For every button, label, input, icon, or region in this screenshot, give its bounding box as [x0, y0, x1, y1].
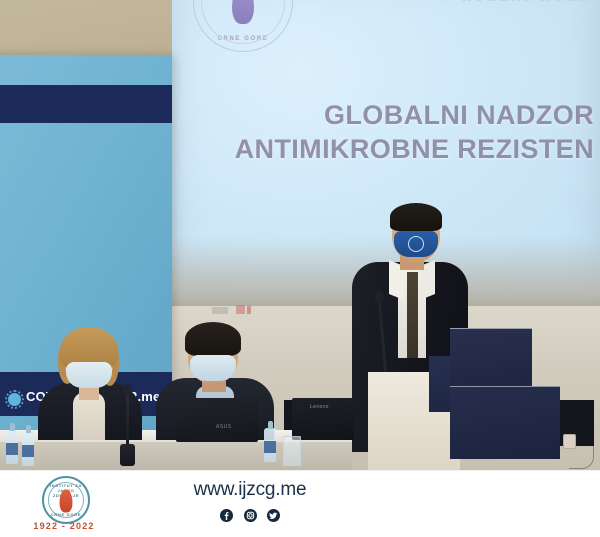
- mask-logo-icon: [408, 236, 424, 252]
- badge-flame-icon: [60, 489, 73, 512]
- woman-face-mask-icon: [66, 362, 112, 388]
- laptop-right-brand: Lenovo: [310, 404, 329, 410]
- slide-logo-flame-icon: [232, 0, 254, 24]
- man-hair: [185, 322, 241, 356]
- laptop-left: [176, 398, 258, 442]
- water-bottle-3: [264, 428, 276, 462]
- speaker-face-mask-icon: [394, 231, 438, 257]
- table-microphone-base: [120, 444, 135, 466]
- drinking-glass: [283, 436, 301, 466]
- speaker-hair: [390, 203, 442, 231]
- slide-footer-logo-1-icon: [212, 307, 228, 314]
- badge-years-label: 1922 - 2022: [32, 521, 96, 531]
- social-links: [155, 507, 345, 525]
- partition-panel-lower: [450, 386, 560, 459]
- conference-photo: INSTITUT ZA JAVNO ZDRAVLJE CRNE GORE ROB…: [0, 0, 600, 470]
- slide-institute-logo-icon: INSTITUT ZA JAVNO ZDRAVLJE CRNE GORE: [193, 0, 293, 52]
- slide-footer-logo-3-icon: [247, 306, 251, 314]
- slide-title-line-1: GLOBALNI NADZOR: [174, 98, 594, 132]
- slide-title: GLOBALNI NADZOR ANTIMIKROBNE REZISTEN: [174, 98, 594, 166]
- power-cable: [569, 446, 594, 469]
- badge-arc-bottom-text: CRNE GORE: [44, 512, 88, 517]
- man-face-mask-icon: [190, 355, 236, 381]
- bottle-label-3: [264, 441, 276, 453]
- bottle-label-2: [22, 445, 34, 457]
- slide-title-line-2: ANTIMIKROBNE REZISTEN: [174, 132, 594, 166]
- slide-partner-text: ROBERT KOCH: [462, 0, 592, 6]
- slide-footer-logo-2-icon: [236, 305, 245, 314]
- bottle-label-1: [6, 443, 18, 455]
- laptop-left-brand: ASUS: [216, 424, 232, 430]
- banner-virus-icon: [8, 393, 21, 406]
- institute-badge-icon: INSTITUT ZA JAVNO ZDRAVLJE CRNE GORE: [42, 476, 90, 524]
- website-url[interactable]: www.ijzcg.me: [155, 479, 345, 501]
- slide-logo-arc-bottom: CRNE GORE: [194, 36, 292, 42]
- table-microphone-icon: [126, 392, 129, 450]
- projection-slide: INSTITUT ZA JAVNO ZDRAVLJE CRNE GORE ROB…: [172, 0, 600, 306]
- water-bottle-2: [22, 432, 34, 466]
- banner-stripe: [0, 85, 172, 123]
- speaker-tie: [407, 272, 418, 358]
- screenshot-root: INSTITUT ZA JAVNO ZDRAVLJE CRNE GORE ROB…: [0, 0, 600, 537]
- water-bottle-1: [6, 430, 18, 464]
- footer-bar: INSTITUT ZA JAVNO ZDRAVLJE CRNE GORE 192…: [0, 470, 600, 537]
- twitter-icon[interactable]: [267, 509, 280, 522]
- instagram-icon[interactable]: [244, 509, 257, 522]
- facebook-icon[interactable]: [220, 509, 233, 522]
- partition-panel-upper: [450, 328, 532, 389]
